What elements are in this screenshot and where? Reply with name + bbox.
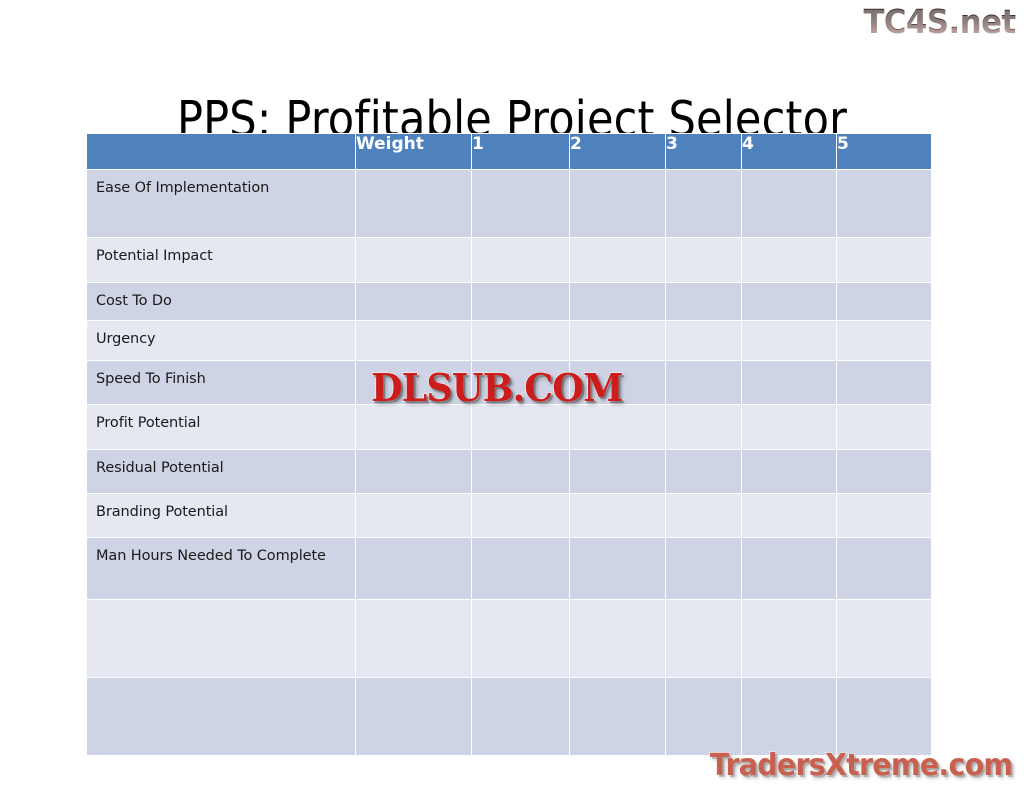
table-row: Potential Impact <box>87 238 932 283</box>
table-row: Cost To Do <box>87 283 932 321</box>
score-input-cell[interactable] <box>666 361 742 405</box>
score-input-cell[interactable] <box>837 678 932 756</box>
criteria-label-cell[interactable]: Speed To Finish <box>87 361 356 405</box>
score-input-cell[interactable] <box>742 538 837 600</box>
table-row <box>87 600 932 678</box>
score-input-cell[interactable] <box>472 321 570 361</box>
column-header-criteria[interactable] <box>87 134 356 170</box>
score-input-cell[interactable] <box>837 283 932 321</box>
criteria-label-cell[interactable]: Potential Impact <box>87 238 356 283</box>
score-input-cell[interactable] <box>837 361 932 405</box>
table-body: Ease Of ImplementationPotential ImpactCo… <box>87 170 932 756</box>
score-input-cell[interactable] <box>570 238 666 283</box>
score-input-cell[interactable] <box>472 238 570 283</box>
score-input-cell[interactable] <box>837 494 932 538</box>
weight-input-cell[interactable] <box>356 321 472 361</box>
score-input-cell[interactable] <box>742 170 837 238</box>
column-header-5[interactable]: 5 <box>837 134 932 170</box>
score-input-cell[interactable] <box>472 283 570 321</box>
score-input-cell[interactable] <box>570 321 666 361</box>
score-input-cell[interactable] <box>666 405 742 450</box>
brand-logo-tc4s: TC4S.net <box>864 2 1016 41</box>
column-header-1[interactable]: 1 <box>472 134 570 170</box>
criteria-label-cell[interactable]: Profit Potential <box>87 405 356 450</box>
score-input-cell[interactable] <box>837 450 932 494</box>
criteria-label-cell[interactable]: Cost To Do <box>87 283 356 321</box>
weight-input-cell[interactable] <box>356 538 472 600</box>
score-input-cell[interactable] <box>570 600 666 678</box>
weight-input-cell[interactable] <box>356 450 472 494</box>
criteria-label-cell[interactable]: Urgency <box>87 321 356 361</box>
score-input-cell[interactable] <box>666 538 742 600</box>
weight-input-cell[interactable] <box>356 405 472 450</box>
table-header: Weight 1 2 3 4 5 <box>87 134 932 170</box>
score-input-cell[interactable] <box>472 678 570 756</box>
score-input-cell[interactable] <box>472 538 570 600</box>
table-row <box>87 678 932 756</box>
weight-input-cell[interactable] <box>356 494 472 538</box>
score-input-cell[interactable] <box>570 450 666 494</box>
scoring-matrix-table: Weight 1 2 3 4 5 Ease Of ImplementationP… <box>86 133 932 756</box>
criteria-label-cell[interactable]: Ease Of Implementation <box>87 170 356 238</box>
score-input-cell[interactable] <box>742 600 837 678</box>
criteria-label-cell[interactable]: Man Hours Needed To Complete <box>87 538 356 600</box>
table-row: Residual Potential <box>87 450 932 494</box>
score-input-cell[interactable] <box>570 538 666 600</box>
weight-input-cell[interactable] <box>356 283 472 321</box>
column-header-4[interactable]: 4 <box>742 134 837 170</box>
weight-input-cell[interactable] <box>356 170 472 238</box>
score-input-cell[interactable] <box>837 170 932 238</box>
score-input-cell[interactable] <box>666 678 742 756</box>
score-input-cell[interactable] <box>472 494 570 538</box>
score-input-cell[interactable] <box>570 678 666 756</box>
score-input-cell[interactable] <box>837 600 932 678</box>
score-input-cell[interactable] <box>666 170 742 238</box>
column-header-weight[interactable]: Weight <box>356 134 472 170</box>
score-input-cell[interactable] <box>472 450 570 494</box>
score-input-cell[interactable] <box>666 494 742 538</box>
score-input-cell[interactable] <box>666 283 742 321</box>
table-row: Branding Potential <box>87 494 932 538</box>
column-header-2[interactable]: 2 <box>570 134 666 170</box>
watermark-dlsub: DLSUB.COM <box>371 369 623 407</box>
column-header-3[interactable]: 3 <box>666 134 742 170</box>
criteria-label-cell[interactable] <box>87 600 356 678</box>
score-input-cell[interactable] <box>742 238 837 283</box>
weight-input-cell[interactable] <box>356 600 472 678</box>
score-input-cell[interactable] <box>837 321 932 361</box>
score-input-cell[interactable] <box>742 678 837 756</box>
score-input-cell[interactable] <box>666 600 742 678</box>
score-input-cell[interactable] <box>570 494 666 538</box>
score-input-cell[interactable] <box>742 361 837 405</box>
score-input-cell[interactable] <box>472 600 570 678</box>
brand-logo-tradersxtreme: TradersXtreme.com <box>710 748 1012 783</box>
score-input-cell[interactable] <box>742 450 837 494</box>
table-header-row: Weight 1 2 3 4 5 <box>87 134 932 170</box>
table-row: Urgency <box>87 321 932 361</box>
table-row: Ease Of Implementation <box>87 170 932 238</box>
score-input-cell[interactable] <box>742 321 837 361</box>
score-input-cell[interactable] <box>837 238 932 283</box>
score-input-cell[interactable] <box>570 170 666 238</box>
score-input-cell[interactable] <box>837 405 932 450</box>
score-input-cell[interactable] <box>570 283 666 321</box>
criteria-label-cell[interactable]: Branding Potential <box>87 494 356 538</box>
score-input-cell[interactable] <box>837 538 932 600</box>
score-input-cell[interactable] <box>742 405 837 450</box>
weight-input-cell[interactable] <box>356 238 472 283</box>
table-row: Man Hours Needed To Complete <box>87 538 932 600</box>
score-input-cell[interactable] <box>742 494 837 538</box>
score-input-cell[interactable] <box>666 450 742 494</box>
criteria-label-cell[interactable] <box>87 678 356 756</box>
table-row: Profit Potential <box>87 405 932 450</box>
score-input-cell[interactable] <box>742 283 837 321</box>
score-input-cell[interactable] <box>472 405 570 450</box>
score-input-cell[interactable] <box>570 405 666 450</box>
score-input-cell[interactable] <box>666 238 742 283</box>
score-input-cell[interactable] <box>472 170 570 238</box>
scoring-matrix-container: Weight 1 2 3 4 5 Ease Of ImplementationP… <box>86 133 931 721</box>
criteria-label-cell[interactable]: Residual Potential <box>87 450 356 494</box>
score-input-cell[interactable] <box>666 321 742 361</box>
weight-input-cell[interactable] <box>356 678 472 756</box>
